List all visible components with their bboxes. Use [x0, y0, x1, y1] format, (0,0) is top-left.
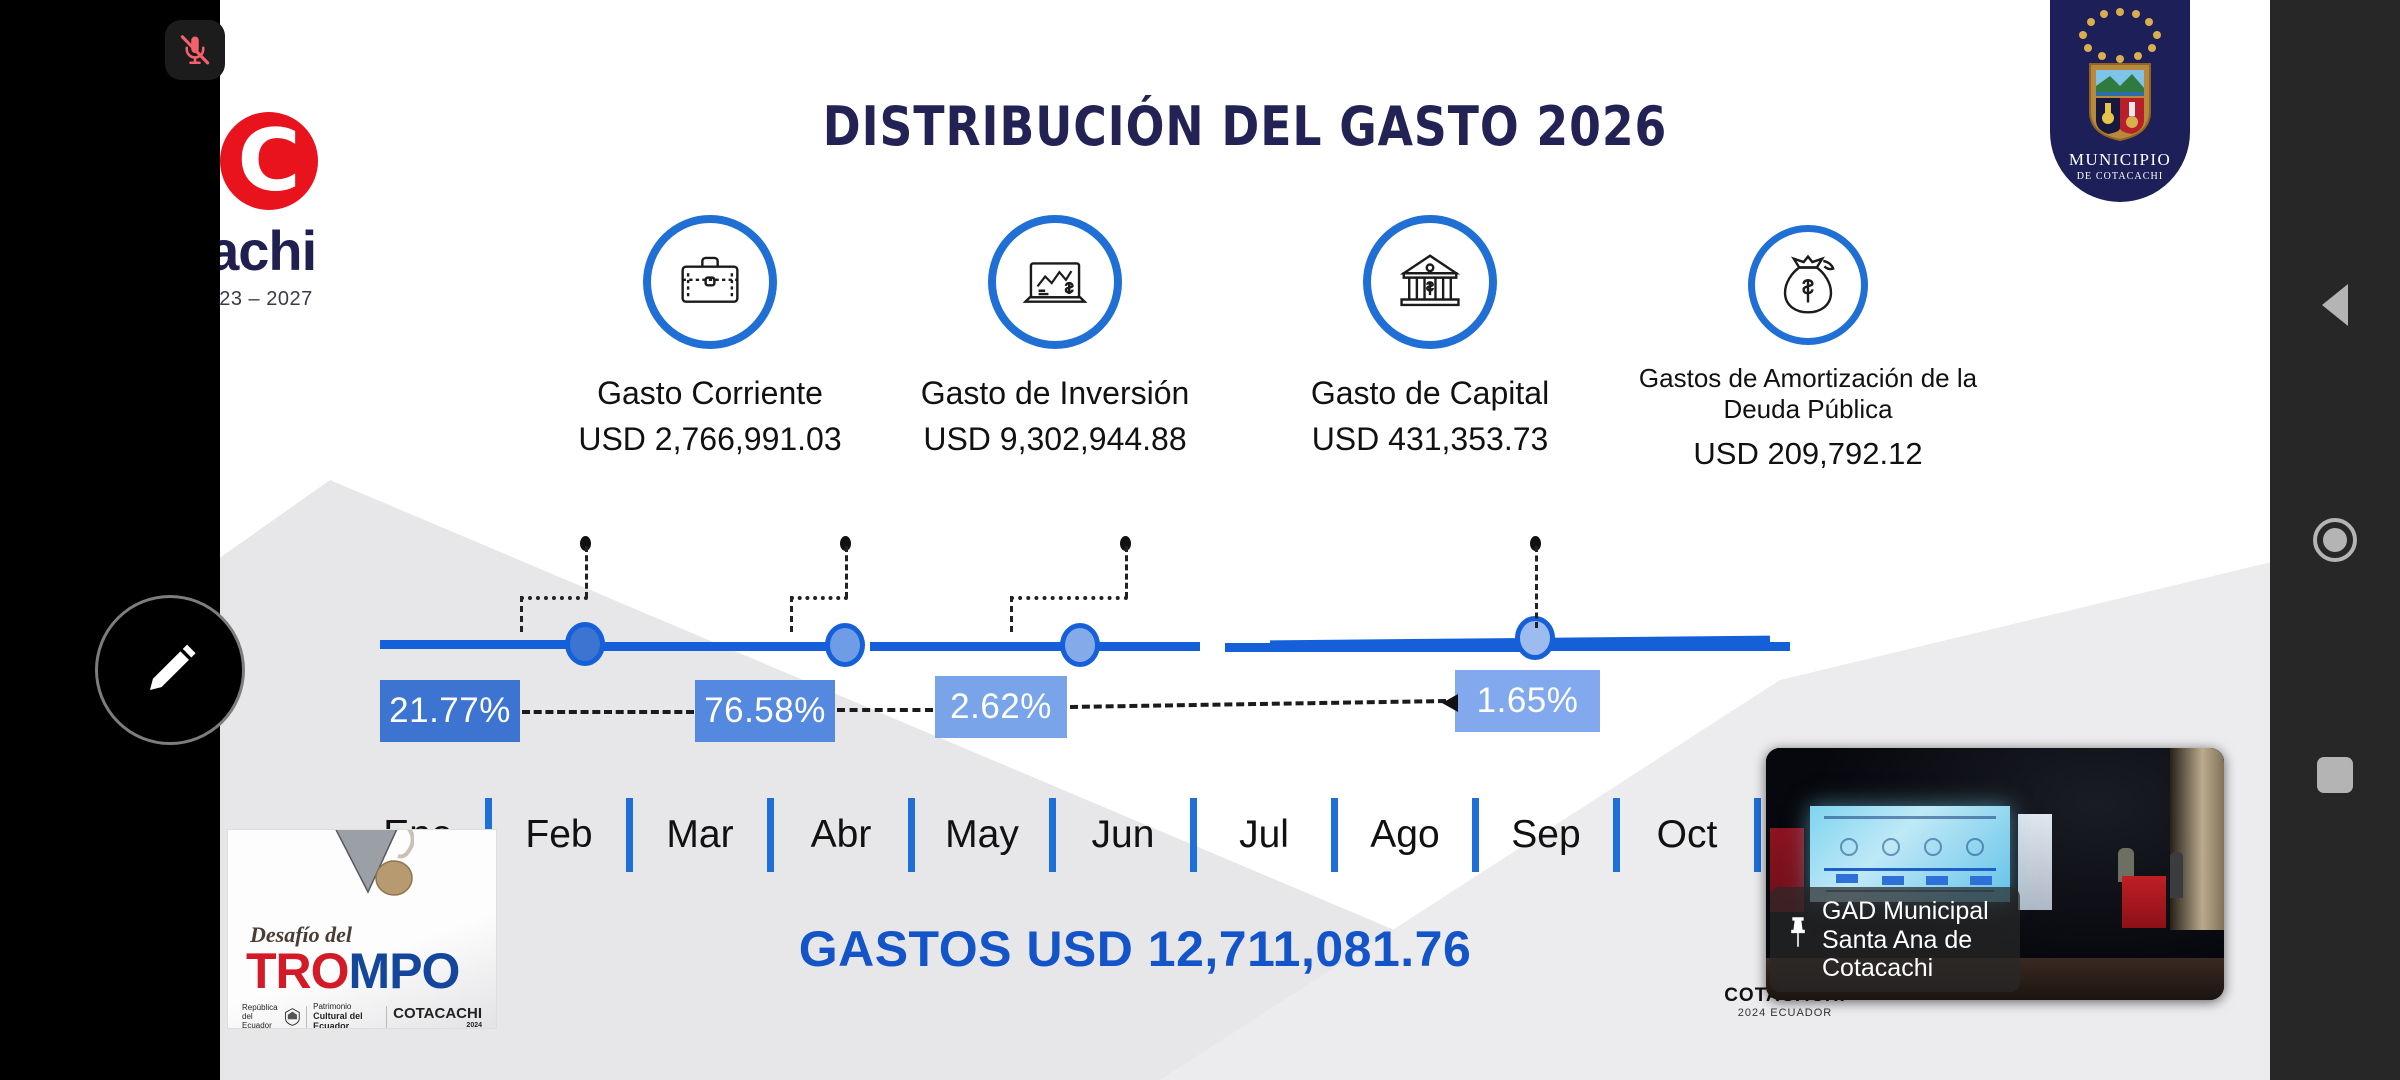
category-label: Gasto Corriente: [550, 375, 870, 413]
nav-home-button[interactable]: [2270, 475, 2400, 605]
timeline-segment: [380, 640, 590, 649]
poster-divider: [306, 1006, 307, 1028]
connector-vertical: [585, 546, 588, 598]
poster-title-part-a: TRO: [246, 943, 349, 999]
percent-badge-amortizacion: 1.65%: [1455, 670, 1600, 732]
crest-shield-icon: [2088, 62, 2152, 142]
nav-recents-button[interactable]: [2270, 710, 2400, 840]
month-label: Jun: [1075, 813, 1171, 857]
trompo-spinner-icon: [318, 830, 414, 926]
timeline-node[interactable]: [565, 622, 605, 666]
category-amount: USD 2,766,991.03: [550, 421, 870, 458]
category-gasto-inversion: Gasto de Inversión USD 9,302,944.88: [860, 215, 1250, 458]
month-divider: [626, 798, 633, 872]
logo-wordmark: cachi: [220, 218, 316, 283]
pip-rollup-banner: [2018, 814, 2052, 910]
connector-vertical: [845, 546, 848, 598]
connector-horizontal: [520, 596, 588, 600]
percent-badge-gasto-inversion: 76.58%: [695, 680, 835, 742]
category-icon-circle: [1363, 215, 1497, 349]
nav-back-button[interactable]: [2270, 240, 2400, 370]
month-divider: [1613, 798, 1620, 872]
connector-vertical: [1125, 546, 1128, 598]
month-divider: [1754, 798, 1761, 872]
crest-stars-icon: [2050, 4, 2190, 64]
briefcase-icon: [675, 247, 745, 317]
pencil-icon: [138, 638, 202, 702]
poster-divider: [386, 1006, 387, 1028]
badge-connector: [522, 710, 694, 714]
connector-horizontal: [790, 596, 848, 600]
month-label: Jul: [1216, 813, 1312, 857]
category-gasto-corriente: Gasto Corriente USD 2,766,991.03: [550, 215, 870, 458]
poster-credit-republic-l1: República: [242, 1003, 278, 1012]
phone-screen: C cachi 2023 – 2027: [0, 0, 2400, 1080]
month-divider: [1472, 798, 1479, 872]
poster-credits: República del Ecuador Patrimonio Cultura…: [242, 1002, 482, 1028]
percent-value: 2.62%: [950, 687, 1052, 727]
category-amortizacion-deuda: Gastos de Amortización de la Deuda Públi…: [1598, 215, 2018, 472]
triangle-back-icon: [2322, 284, 2348, 326]
bank-dollar-icon: [1395, 247, 1465, 317]
month-label: Abr: [793, 813, 889, 857]
percent-badge-gasto-capital: 2.62%: [935, 676, 1067, 738]
annotate-button[interactable]: [95, 595, 245, 745]
poster-credit-heritage-l2: Cultural del Ecuador: [313, 1011, 363, 1028]
month-divider: [767, 798, 774, 872]
connector-vertical: [520, 596, 523, 632]
municipio-cotacachi-crest: MUNICIPIO DE COTACACHI: [2050, 0, 2190, 202]
category-label: Gasto de Inversión: [860, 375, 1250, 413]
month-label: May: [934, 813, 1030, 857]
month-divider: [1190, 798, 1197, 872]
poster-credit-heritage: Patrimonio Cultural del Ecuador: [313, 1002, 380, 1028]
poster-title-part-b: MPO: [349, 943, 460, 999]
timeline-node[interactable]: [825, 623, 865, 667]
microphone-muted-button[interactable]: [165, 20, 225, 80]
logo-period: 2023 – 2027: [220, 288, 313, 311]
category-amount: USD 209,792.12: [1598, 436, 2018, 472]
poster-credit-heritage-l1: Patrimonio: [313, 1002, 380, 1011]
category-label: Gastos de Amortización de la Deuda Públi…: [1598, 363, 2018, 424]
pip-channel-name: GAD Municipal Santa Ana de Cotacachi: [1822, 897, 2010, 982]
page-title: DISTRIBUCIÓN DEL GASTO 2026: [282, 95, 2209, 158]
left-letterbox: [0, 0, 220, 1080]
connector-horizontal: [1010, 596, 1128, 600]
month-label: Feb: [511, 813, 607, 857]
category-label: Gasto de Capital: [1250, 375, 1610, 413]
month-divider: [908, 798, 915, 872]
ecuador-coat-of-arms-icon: [284, 1005, 301, 1029]
poster-title: TROMPO: [246, 942, 459, 1000]
poster-credit-republic-l2: del Ecuador: [242, 1012, 278, 1028]
category-icon-circle: [643, 215, 777, 349]
percent-value: 21.77%: [389, 691, 511, 731]
laptop-chart-dollar-icon: [1020, 247, 1090, 317]
connector-vertical: [790, 596, 793, 632]
badge-connector: [837, 708, 933, 712]
pip-attendee: [2170, 852, 2183, 898]
month-divider: [1049, 798, 1056, 872]
pip-stage-curtain: [2170, 748, 2224, 930]
desafio-trompo-poster: Desafío del TROMPO República del Ecuador…: [228, 830, 496, 1028]
badge-connector-arrow: [1442, 694, 1458, 712]
timeline-segment: [870, 642, 1200, 651]
crest-line-1: MUNICIPIO: [2050, 150, 2190, 170]
footer-logo-sub: 2024 ECUADOR: [1720, 1007, 1850, 1019]
month-label: Oct: [1639, 813, 1735, 857]
connector-vertical: [1010, 596, 1013, 632]
pip-video-player[interactable]: GAD Municipal Santa Ana de Cotacachi: [1766, 748, 2224, 1000]
month-divider: [1331, 798, 1338, 872]
circle-home-icon: [2313, 518, 2357, 562]
android-navigation-bar: [2270, 0, 2400, 1080]
microphone-muted-icon: [177, 32, 213, 68]
category-gasto-capital: Gasto de Capital USD 431,353.73: [1250, 215, 1610, 458]
category-icon-circle: [988, 215, 1122, 349]
square-recents-icon: [2317, 757, 2353, 793]
pip-channel-caption[interactable]: GAD Municipal Santa Ana de Cotacachi: [1770, 887, 2020, 992]
poster-city-name: COTACACHI: [393, 1005, 482, 1022]
month-label: Sep: [1498, 813, 1594, 857]
category-amount: USD 9,302,944.88: [860, 421, 1250, 458]
timeline-node[interactable]: [1060, 623, 1100, 667]
crest-line-2: DE COTACACHI: [2050, 171, 2190, 182]
category-amount: USD 431,353.73: [1250, 421, 1610, 458]
percent-value: 1.65%: [1477, 681, 1579, 721]
poster-year: 2024: [393, 1022, 482, 1029]
connector-vertical: [1535, 546, 1538, 628]
pin-icon: [1784, 915, 1812, 949]
timeline-track: [220, 520, 2270, 720]
category-icon-circle: [1748, 225, 1868, 345]
poster-credit-republic: República del Ecuador: [242, 1003, 278, 1028]
percent-value: 76.58%: [704, 691, 826, 731]
money-bag-icon: [1773, 250, 1843, 320]
percent-badge-gasto-corriente: 21.77%: [380, 680, 520, 742]
poster-city: COTACACHI 2024: [393, 1005, 482, 1029]
month-label: Ago: [1357, 813, 1453, 857]
timeline-segment: [600, 642, 840, 651]
month-label: Mar: [652, 813, 748, 857]
pip-podium: [2122, 876, 2166, 928]
